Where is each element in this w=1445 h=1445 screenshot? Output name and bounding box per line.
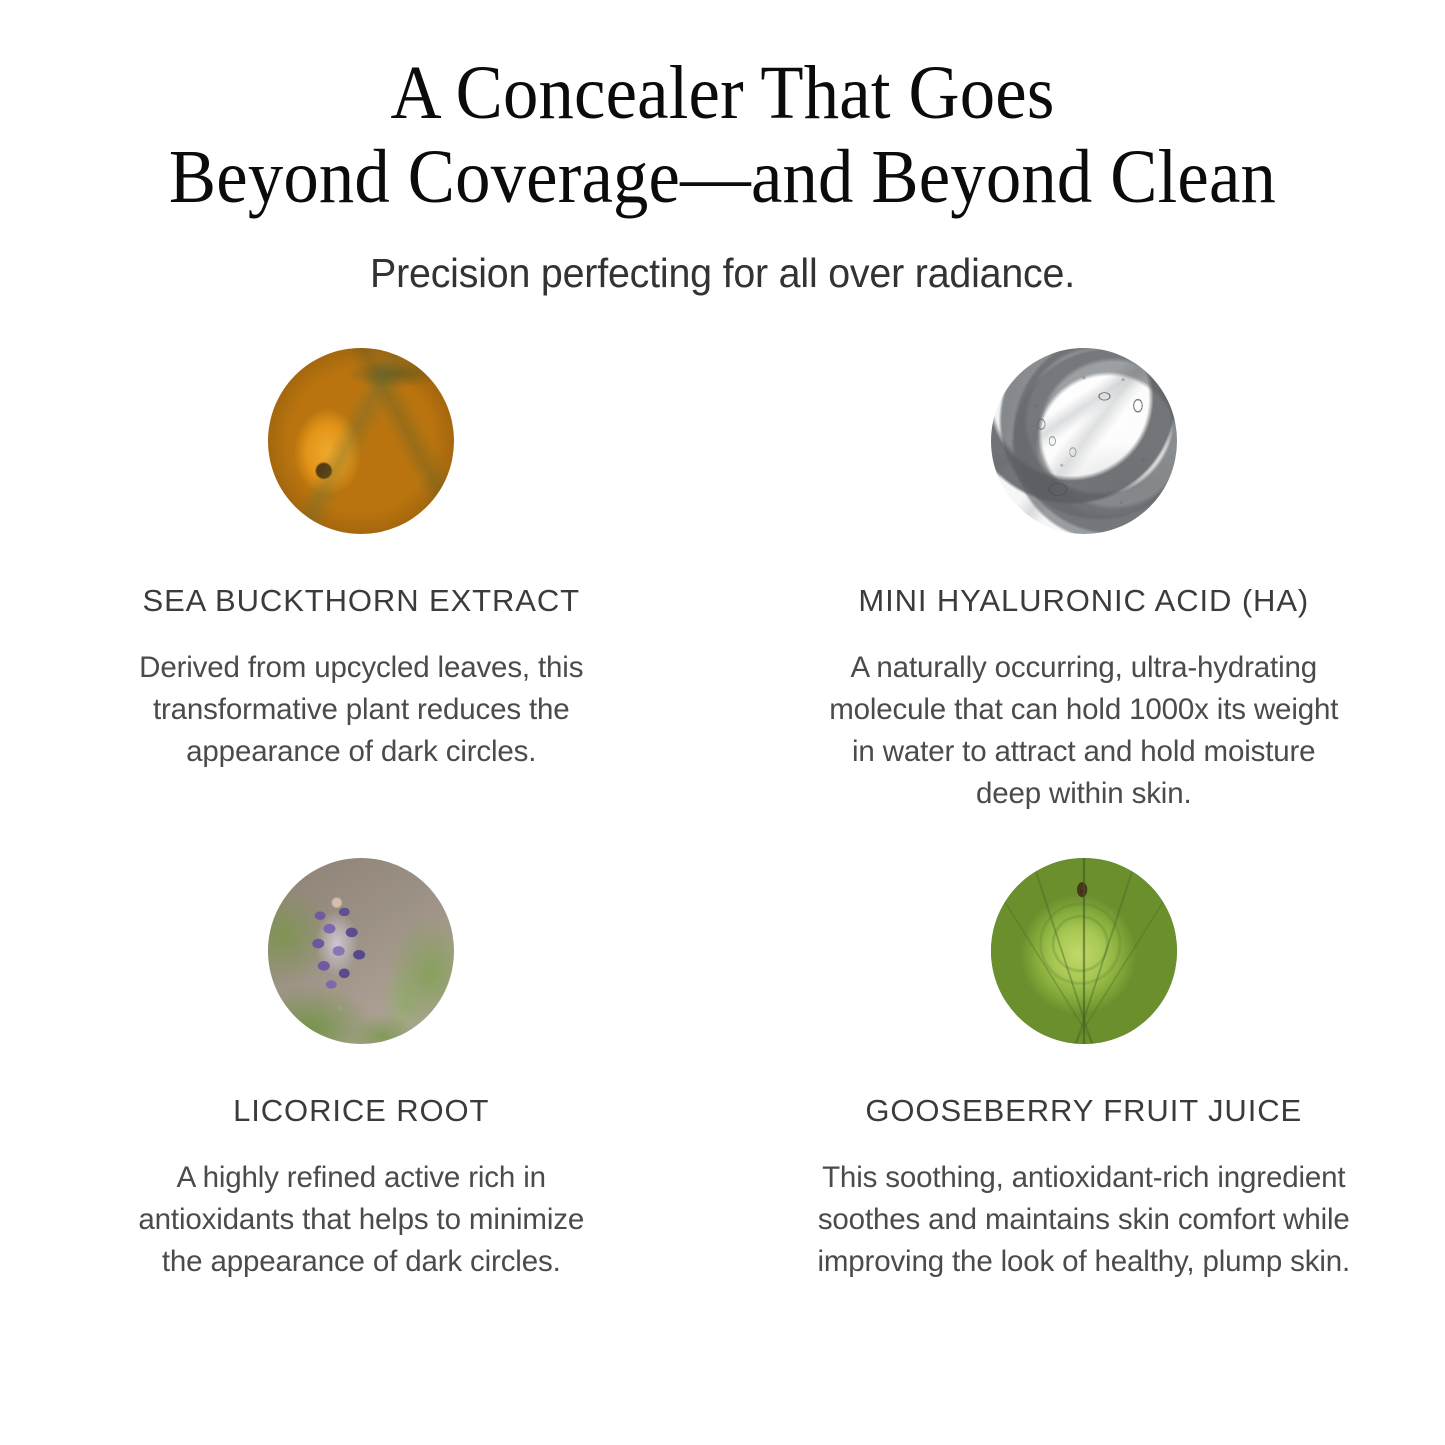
ingredient-card-mini-hyaluronic-acid: MINI HYALURONIC ACID (HA) A naturally oc… <box>723 348 1445 858</box>
ingredient-description: Derived from upcycled leaves, this trans… <box>126 647 596 773</box>
ingredient-grid: SEA BUCKTHORN EXTRACT Derived from upcyc… <box>0 348 1445 1368</box>
ingredient-description: A highly refined active rich in antioxid… <box>121 1157 601 1283</box>
ingredient-benefits-infographic: A Concealer That Goes Beyond Coverage—an… <box>0 0 1445 1445</box>
page-subtitle: Precision perfecting for all over radian… <box>29 249 1416 298</box>
ingredient-card-gooseberry-fruit-juice: GOOSEBERRY FRUIT JUICE This soothing, an… <box>723 858 1445 1368</box>
sea-buckthorn-berries-image <box>268 348 454 534</box>
ingredient-name: SEA BUCKTHORN EXTRACT <box>143 582 580 619</box>
gooseberry-fruit-image <box>991 858 1177 1044</box>
hyaluronic-acid-gel-image <box>991 348 1177 534</box>
ingredient-description: This soothing, antioxidant-rich ingredie… <box>809 1157 1359 1283</box>
ingredient-name: MINI HYALURONIC ACID (HA) <box>858 582 1309 619</box>
licorice-root-flower-image <box>268 858 454 1044</box>
ingredient-description: A naturally occurring, ultra-hydrating m… <box>819 647 1349 815</box>
ingredient-name: LICORICE ROOT <box>233 1092 489 1129</box>
ingredient-card-licorice-root: LICORICE ROOT A highly refined active ri… <box>0 858 723 1368</box>
ingredient-card-sea-buckthorn-extract: SEA BUCKTHORN EXTRACT Derived from upcyc… <box>0 348 723 858</box>
ingredient-name: GOOSEBERRY FRUIT JUICE <box>865 1092 1302 1129</box>
page-title: A Concealer That Goes Beyond Coverage—an… <box>51 52 1395 219</box>
header: A Concealer That Goes Beyond Coverage—an… <box>0 0 1445 298</box>
